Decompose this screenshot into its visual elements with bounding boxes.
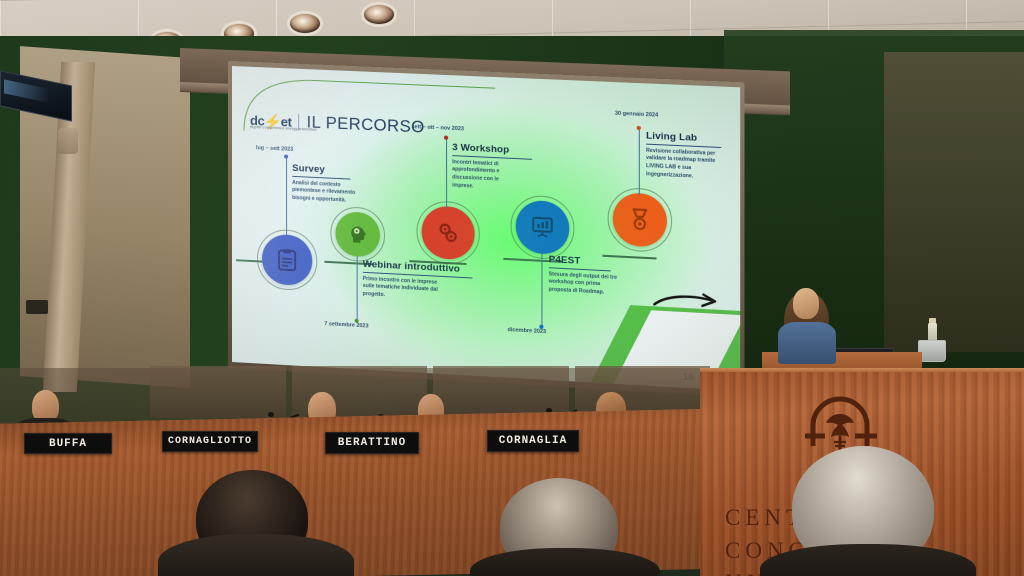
stem-workshop <box>446 138 447 209</box>
timeline-label-webinar: Webinar introduttivo Primo incontro con … <box>363 259 473 305</box>
nameplate-buffa: BUFFA <box>24 433 112 454</box>
right-wall-wood-trim <box>884 52 1024 352</box>
nameplate-berattino: BERATTINO <box>325 432 419 454</box>
label-heading: Survey <box>292 163 367 178</box>
timeline-date-p4est: dicembre 2023 <box>507 327 546 335</box>
nameplate-cornaglia: CORNAGLIA <box>487 430 579 452</box>
timeline-date-webinar: 7 settembre 2023 <box>324 321 368 329</box>
label-body: Incontri tematici di approfondimento e d… <box>452 159 520 193</box>
label-body: Stesura degli output dei tre workshop co… <box>549 271 619 298</box>
label-heading: 3 Workshop <box>452 142 532 157</box>
dcet-logo: dc⚡et digital competence energy transiti… <box>250 111 292 131</box>
timeline-node-livinglab <box>613 192 667 248</box>
stem-webinar <box>357 256 358 320</box>
label-heading: P4EST <box>549 254 619 269</box>
conference-room-photo: dc⚡et digital competence energy transiti… <box>0 0 1024 576</box>
presenter-torso <box>778 322 836 364</box>
stem-dot-workshop <box>444 136 448 140</box>
timeline-date-livinglab: 30 gennaio 2024 <box>615 111 658 119</box>
nameplate-text: BUFFA <box>49 438 87 450</box>
timeline-node-p4est <box>516 200 570 255</box>
stem-livinglab <box>639 128 640 195</box>
timeline-node-survey <box>262 234 312 287</box>
pillar-fixture <box>58 128 78 154</box>
nameplate-text: BERATTINO <box>338 437 406 449</box>
presentation-slide: dc⚡et digital competence energy transiti… <box>232 66 740 391</box>
timeline-label-workshop: 3 Workshop Incontri tematici di approfon… <box>452 142 532 194</box>
timeline-label-p4est: P4EST Stesura degli output dei tre works… <box>549 254 619 298</box>
label-heading: Living Lab <box>646 130 721 145</box>
label-body: Revisione collaborativa per validare la … <box>646 147 717 182</box>
nameplate-cornagliotto: CORNAGLIOTTO <box>162 431 258 452</box>
timeline-node-workshop <box>422 205 475 260</box>
wall-socket <box>26 300 48 314</box>
nameplate-text: CORNAGLIOTTO <box>168 436 252 447</box>
ice-bucket <box>918 340 946 362</box>
timeline-label-survey: Survey Analisi del contesto piemontese e… <box>292 163 367 206</box>
timeline-label-livinglab: Living Lab Revisione collaborativa per v… <box>646 130 721 182</box>
nameplate-text: CORNAGLIA <box>499 435 567 447</box>
stem-dot-survey <box>284 154 288 158</box>
label-body: Primo incontro con le imprese sulle tema… <box>363 276 450 304</box>
timeline-node-webinar <box>335 211 380 258</box>
timeline-date-survey: lug – sett 2023 <box>256 145 293 153</box>
bottle-cap <box>929 318 936 323</box>
stem-survey <box>286 157 287 237</box>
label-body: Analisi del contesto piemontese e rileva… <box>292 180 367 207</box>
stem-p4est <box>541 254 542 327</box>
stem-dot-livinglab <box>637 126 641 130</box>
projection-screen: dc⚡et digital competence energy transiti… <box>232 66 740 391</box>
screen-surface: dc⚡et digital competence energy transiti… <box>232 66 740 391</box>
